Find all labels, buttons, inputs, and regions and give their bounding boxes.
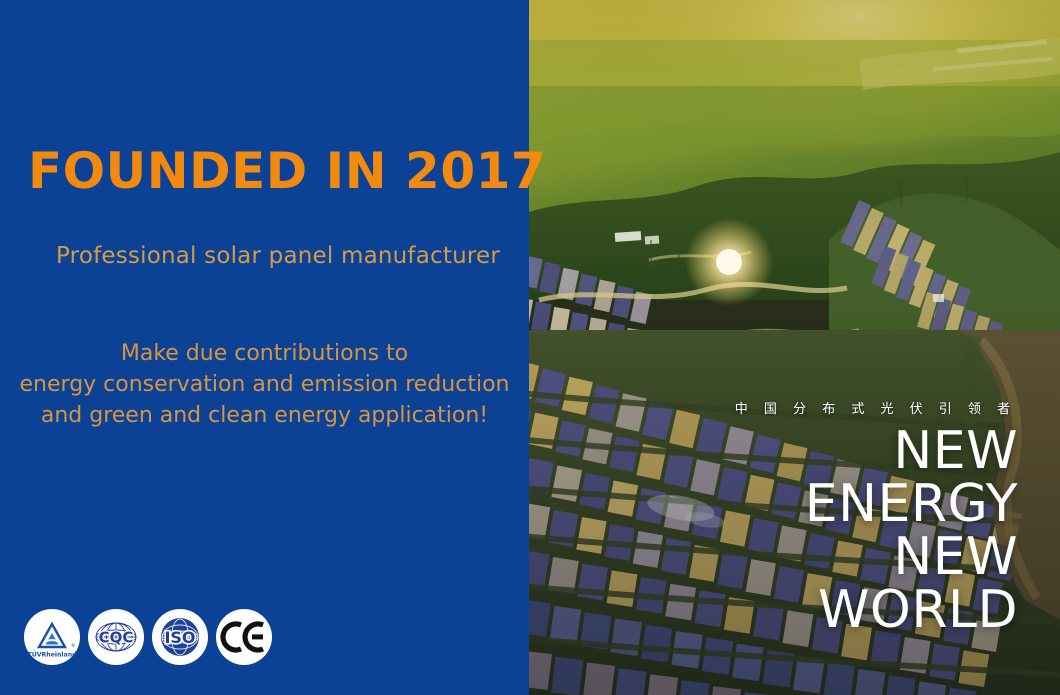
- promotional-banner: 中 国 分 布 式 光 伏 引 领 者 NEW ENERGY NEW WORLD…: [0, 0, 1060, 695]
- svg-text:®: ®: [71, 642, 76, 649]
- mission-statement: Make due contributions to energy conserv…: [0, 338, 529, 432]
- iso-badge: ISO: [152, 609, 208, 665]
- certification-badges: TÜVRheinland ® CQC: [24, 609, 272, 665]
- page-title: FOUNDED IN 2017: [28, 145, 546, 198]
- text-panel: FOUNDED IN 2017 Professional solar panel…: [0, 0, 529, 695]
- mission-line-1: Make due contributions to: [0, 338, 529, 369]
- slogan-line-3: NEW: [805, 531, 1018, 584]
- subtitle: Professional solar panel manufacturer: [56, 243, 500, 269]
- slogan-overlay: NEW ENERGY NEW WORLD: [805, 425, 1018, 637]
- ce-badge: [216, 609, 272, 665]
- svg-text:TÜVRheinland: TÜVRheinland: [27, 650, 76, 659]
- svg-text:ISO: ISO: [164, 628, 195, 647]
- cqc-badge: CQC: [88, 609, 144, 665]
- svg-text:CQC: CQC: [99, 629, 134, 647]
- triangle-a-icon: [39, 624, 65, 647]
- slogan-line-2: ENERGY: [805, 478, 1018, 531]
- mission-line-2: energy conservation and emission reducti…: [0, 369, 529, 400]
- chinese-tagline: 中 国 分 布 式 光 伏 引 领 者: [735, 398, 1016, 417]
- slogan-line-4: WORLD: [805, 584, 1018, 637]
- tuv-rheinland-badge: TÜVRheinland ®: [24, 609, 80, 665]
- mission-line-3: and green and clean energy application!: [0, 400, 529, 431]
- slogan-line-1: NEW: [805, 425, 1018, 478]
